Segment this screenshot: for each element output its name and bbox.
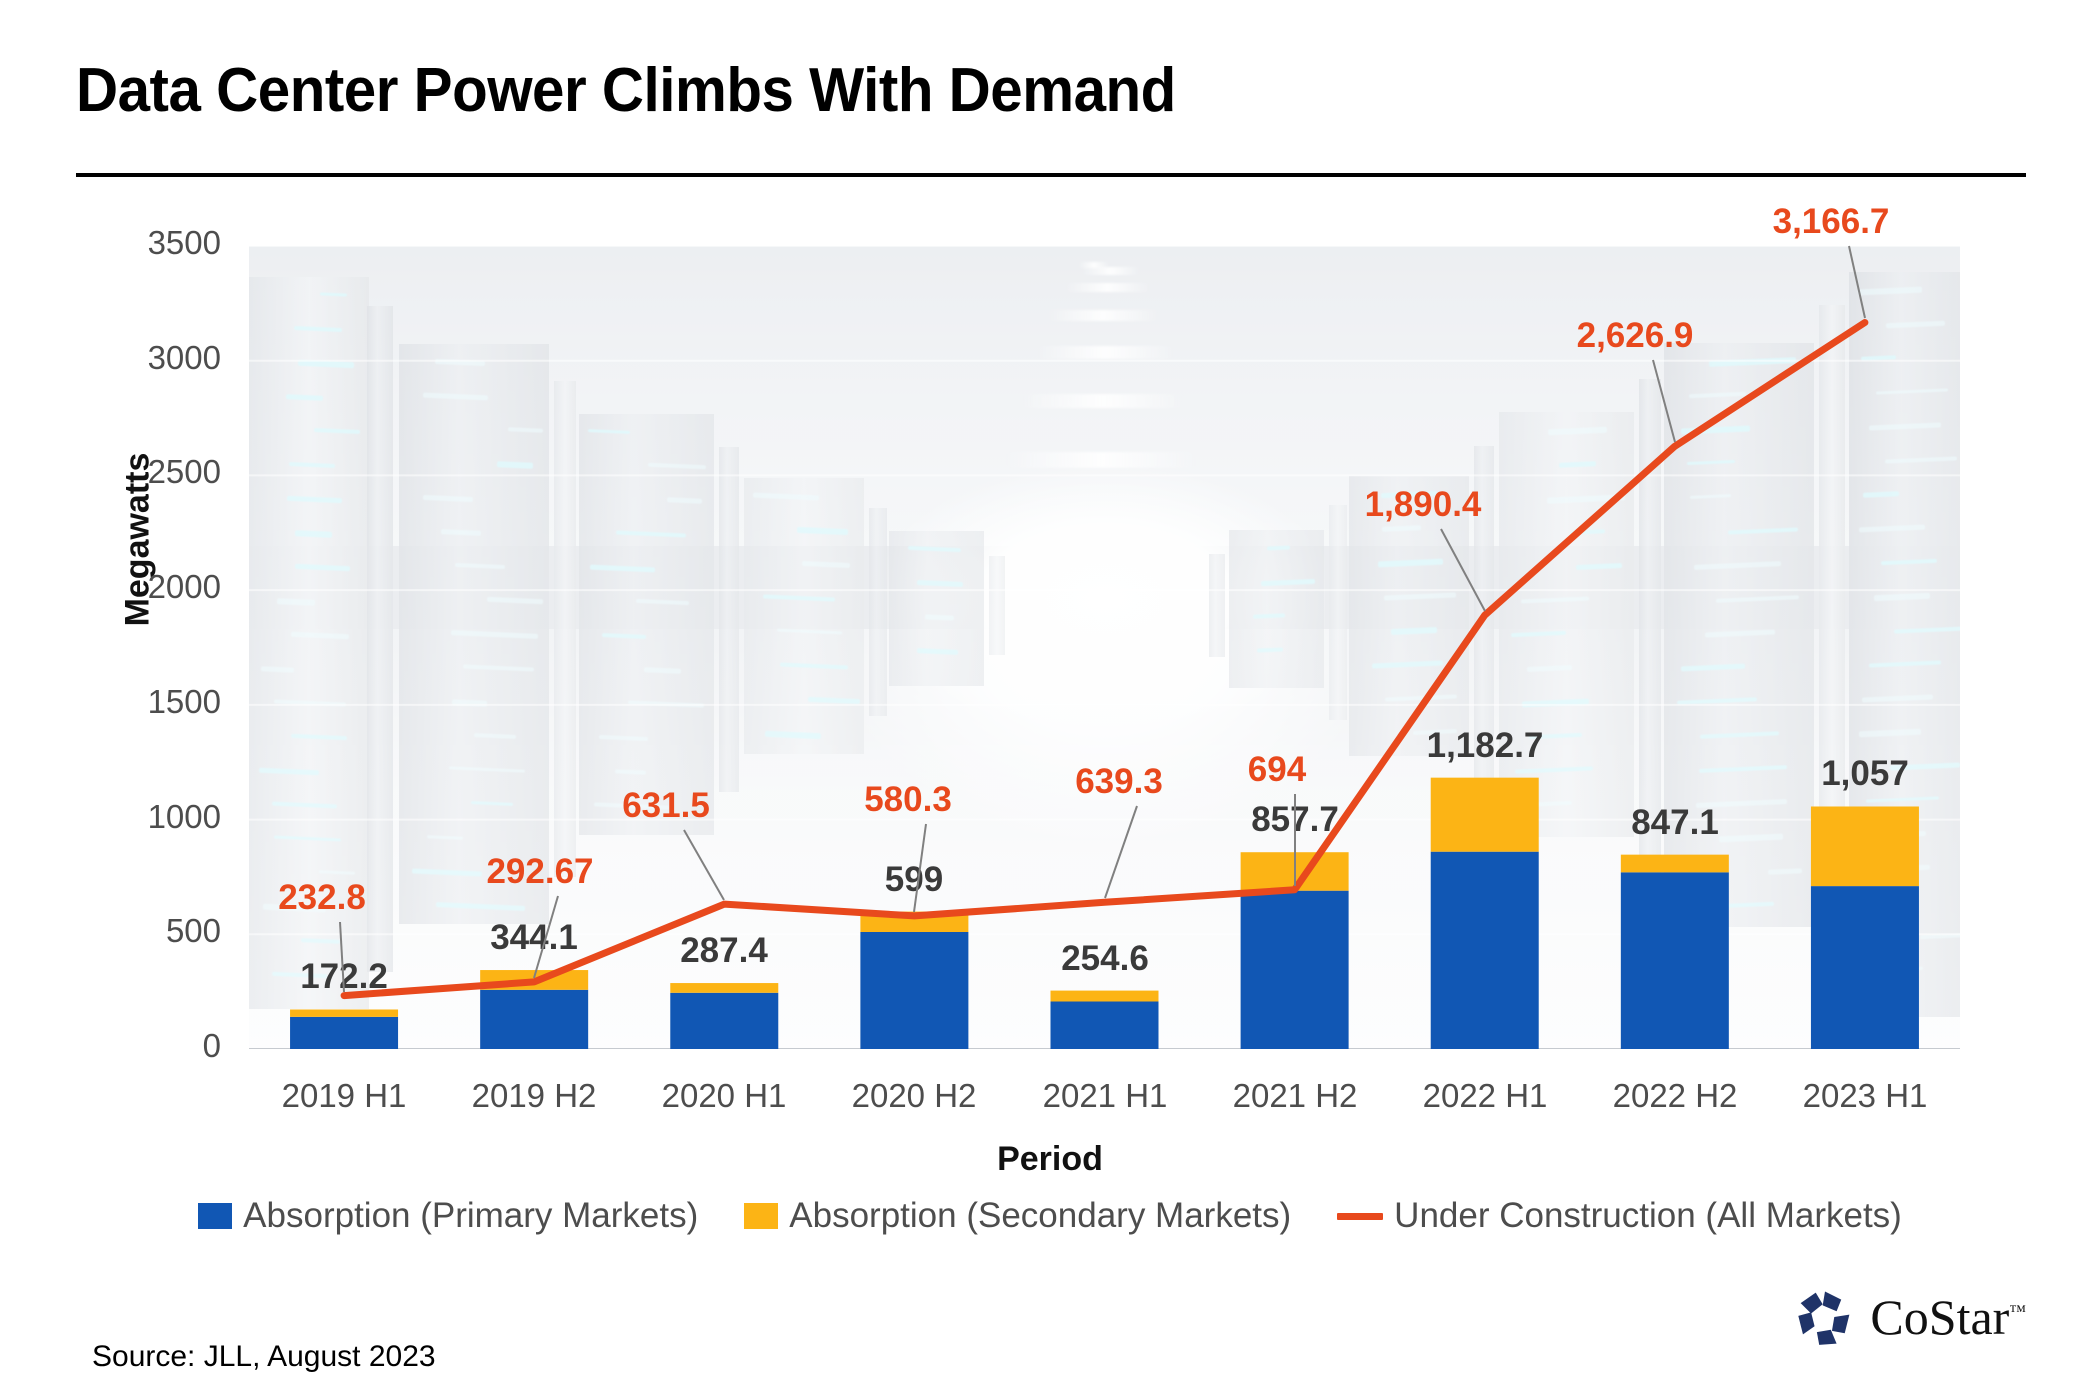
line-label-6: 1,890.4: [1365, 485, 1482, 525]
x-tick-2021-h2: 2021 H2: [1200, 1077, 1390, 1115]
bar-primary-3: [860, 932, 968, 1049]
y-tick-3500: 3500: [81, 224, 221, 262]
bar-label-3: 599: [885, 860, 943, 900]
costar-tm: ™: [2009, 1301, 2026, 1320]
page-title: Data Center Power Climbs With Demand: [76, 55, 1176, 126]
costar-pinwheel-icon: [1796, 1288, 1854, 1346]
line-label-5: 694: [1248, 750, 1306, 790]
bar-primary-4: [1051, 1002, 1159, 1049]
x-axis-title: Period: [0, 1140, 2100, 1179]
title-divider: [76, 173, 2026, 177]
y-tick-3000: 3000: [81, 339, 221, 377]
x-tick-2019-h2: 2019 H2: [439, 1077, 629, 1115]
x-tick-2020-h2: 2020 H2: [819, 1077, 1009, 1115]
x-tick-2022-h2: 2022 H2: [1580, 1077, 1770, 1115]
y-axis-title: Megawatts: [119, 380, 158, 700]
legend-line-2: [1337, 1213, 1383, 1220]
legend-swatch-0: [198, 1203, 232, 1229]
bar-secondary-6: [1431, 778, 1539, 852]
bar-label-5: 857.7: [1251, 800, 1339, 840]
source-note: Source: JLL, August 2023: [92, 1340, 436, 1374]
bar-primary-1: [480, 990, 588, 1049]
legend-item-2[interactable]: Under Construction (All Markets): [1337, 1196, 1902, 1236]
y-tick-1500: 1500: [81, 683, 221, 721]
costar-logo: CoStar™: [1796, 1288, 2026, 1346]
legend-item-0[interactable]: Absorption (Primary Markets): [198, 1196, 698, 1236]
legend-label-1: Absorption (Secondary Markets): [789, 1196, 1291, 1236]
x-tick-2020-h1: 2020 H1: [629, 1077, 819, 1115]
bar-secondary-2: [670, 983, 778, 993]
legend-label-0: Absorption (Primary Markets): [243, 1196, 698, 1236]
bar-label-7: 847.1: [1631, 803, 1719, 843]
bar-primary-0: [290, 1017, 398, 1049]
bar-label-4: 254.6: [1061, 939, 1149, 979]
bar-label-6: 1,182.7: [1427, 726, 1544, 766]
x-tick-2019-h1: 2019 H1: [249, 1077, 439, 1115]
bar-primary-6: [1431, 852, 1539, 1049]
legend-swatch-1: [744, 1203, 778, 1229]
bar-label-0: 172.2: [300, 957, 388, 997]
bar-label-1: 344.1: [490, 918, 578, 958]
legend-label-2: Under Construction (All Markets): [1394, 1196, 1902, 1236]
bar-secondary-4: [1051, 991, 1159, 1002]
y-tick-500: 500: [81, 912, 221, 950]
bar-primary-7: [1621, 872, 1729, 1049]
line-label-3: 580.3: [864, 780, 952, 820]
bar-secondary-0: [290, 1009, 398, 1016]
bar-primary-5: [1241, 891, 1349, 1049]
line-label-0: 232.8: [278, 878, 366, 918]
bar-label-8: 1,057: [1821, 754, 1909, 794]
bar-label-2: 287.4: [680, 931, 768, 971]
bar-primary-8: [1811, 886, 1919, 1049]
line-label-7: 2,626.9: [1577, 316, 1694, 356]
x-tick-2021-h1: 2021 H1: [1010, 1077, 1200, 1115]
line-label-2: 631.5: [622, 786, 710, 826]
legend-item-1[interactable]: Absorption (Secondary Markets): [744, 1196, 1291, 1236]
bar-secondary-7: [1621, 855, 1729, 873]
y-tick-0: 0: [81, 1027, 221, 1065]
y-tick-2000: 2000: [81, 568, 221, 606]
chart-page: Data Center Power Climbs With Demand Meg…: [0, 0, 2100, 1400]
bar-secondary-8: [1811, 806, 1919, 886]
y-tick-2500: 2500: [81, 453, 221, 491]
line-label-4: 639.3: [1075, 762, 1163, 802]
bar-primary-2: [670, 993, 778, 1049]
line-label-8: 3,166.7: [1773, 202, 1890, 242]
costar-wordmark-text: CoStar: [1870, 1289, 2009, 1345]
chart-legend: Absorption (Primary Markets)Absorption (…: [0, 1196, 2100, 1236]
x-tick-2023-h1: 2023 H1: [1770, 1077, 1960, 1115]
y-tick-1000: 1000: [81, 798, 221, 836]
line-label-1: 292.67: [486, 852, 593, 892]
x-tick-2022-h1: 2022 H1: [1390, 1077, 1580, 1115]
costar-wordmark: CoStar™: [1870, 1292, 2026, 1342]
